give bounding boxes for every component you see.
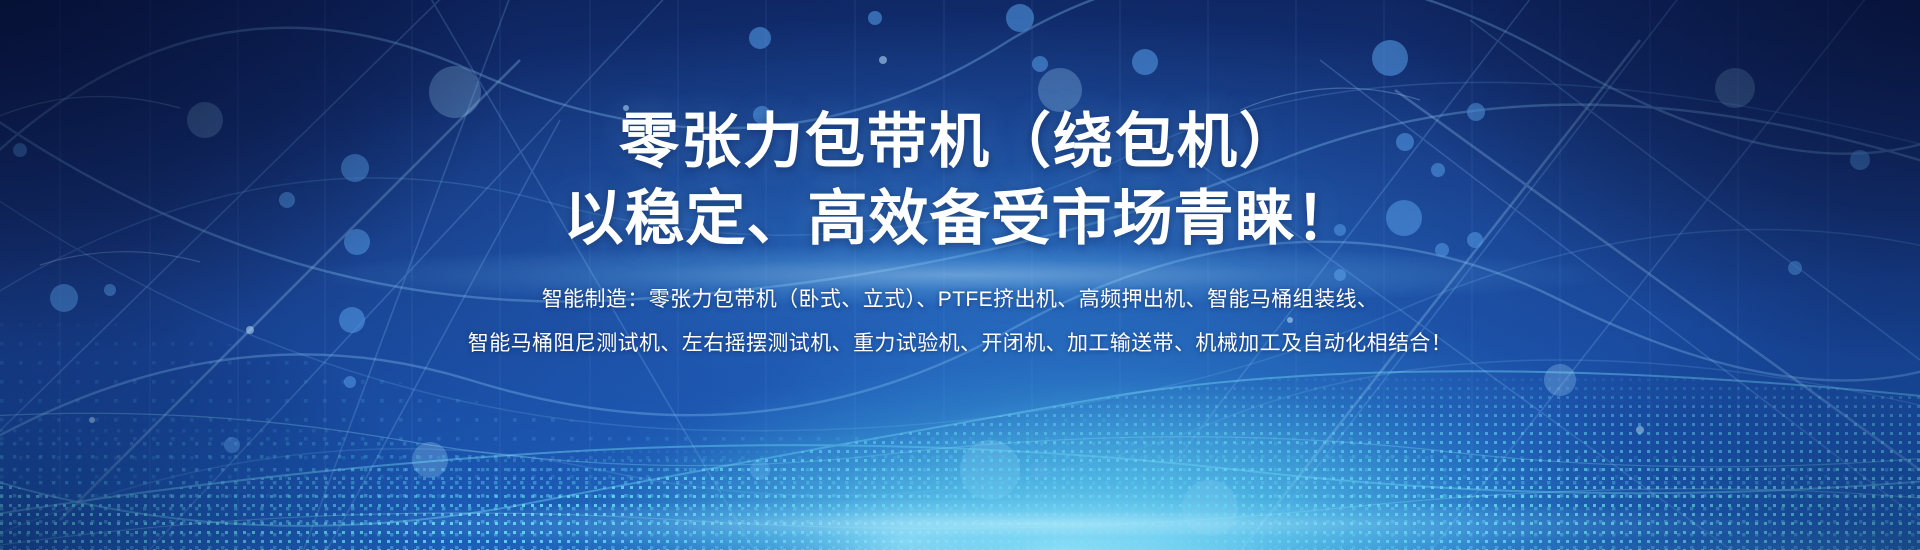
banner-headline-line-2: 以稳定、高效备受市场青睐！	[0, 185, 1920, 252]
banner-subtitle-line-1: 智能制造：零张力包带机（卧式、立式）、PTFE挤出机、高频押出机、智能马桶组装线…	[0, 278, 1920, 322]
bottom-light-streak	[0, 500, 1920, 550]
hero-banner: 零张力包带机（绕包机） 以稳定、高效备受市场青睐！ 智能制造：零张力包带机（卧式…	[0, 0, 1920, 550]
banner-subtitle: 智能制造：零张力包带机（卧式、立式）、PTFE挤出机、高频押出机、智能马桶组装线…	[0, 278, 1920, 366]
banner-content: 零张力包带机（绕包机） 以稳定、高效备受市场青睐！ 智能制造：零张力包带机（卧式…	[0, 0, 1920, 367]
banner-subtitle-line-2: 智能马桶阻尼测试机、左右摇摆测试机、重力试验机、开闭机、加工输送带、机械加工及自…	[0, 322, 1920, 366]
banner-headline-line-1: 零张力包带机（绕包机）	[0, 108, 1920, 175]
